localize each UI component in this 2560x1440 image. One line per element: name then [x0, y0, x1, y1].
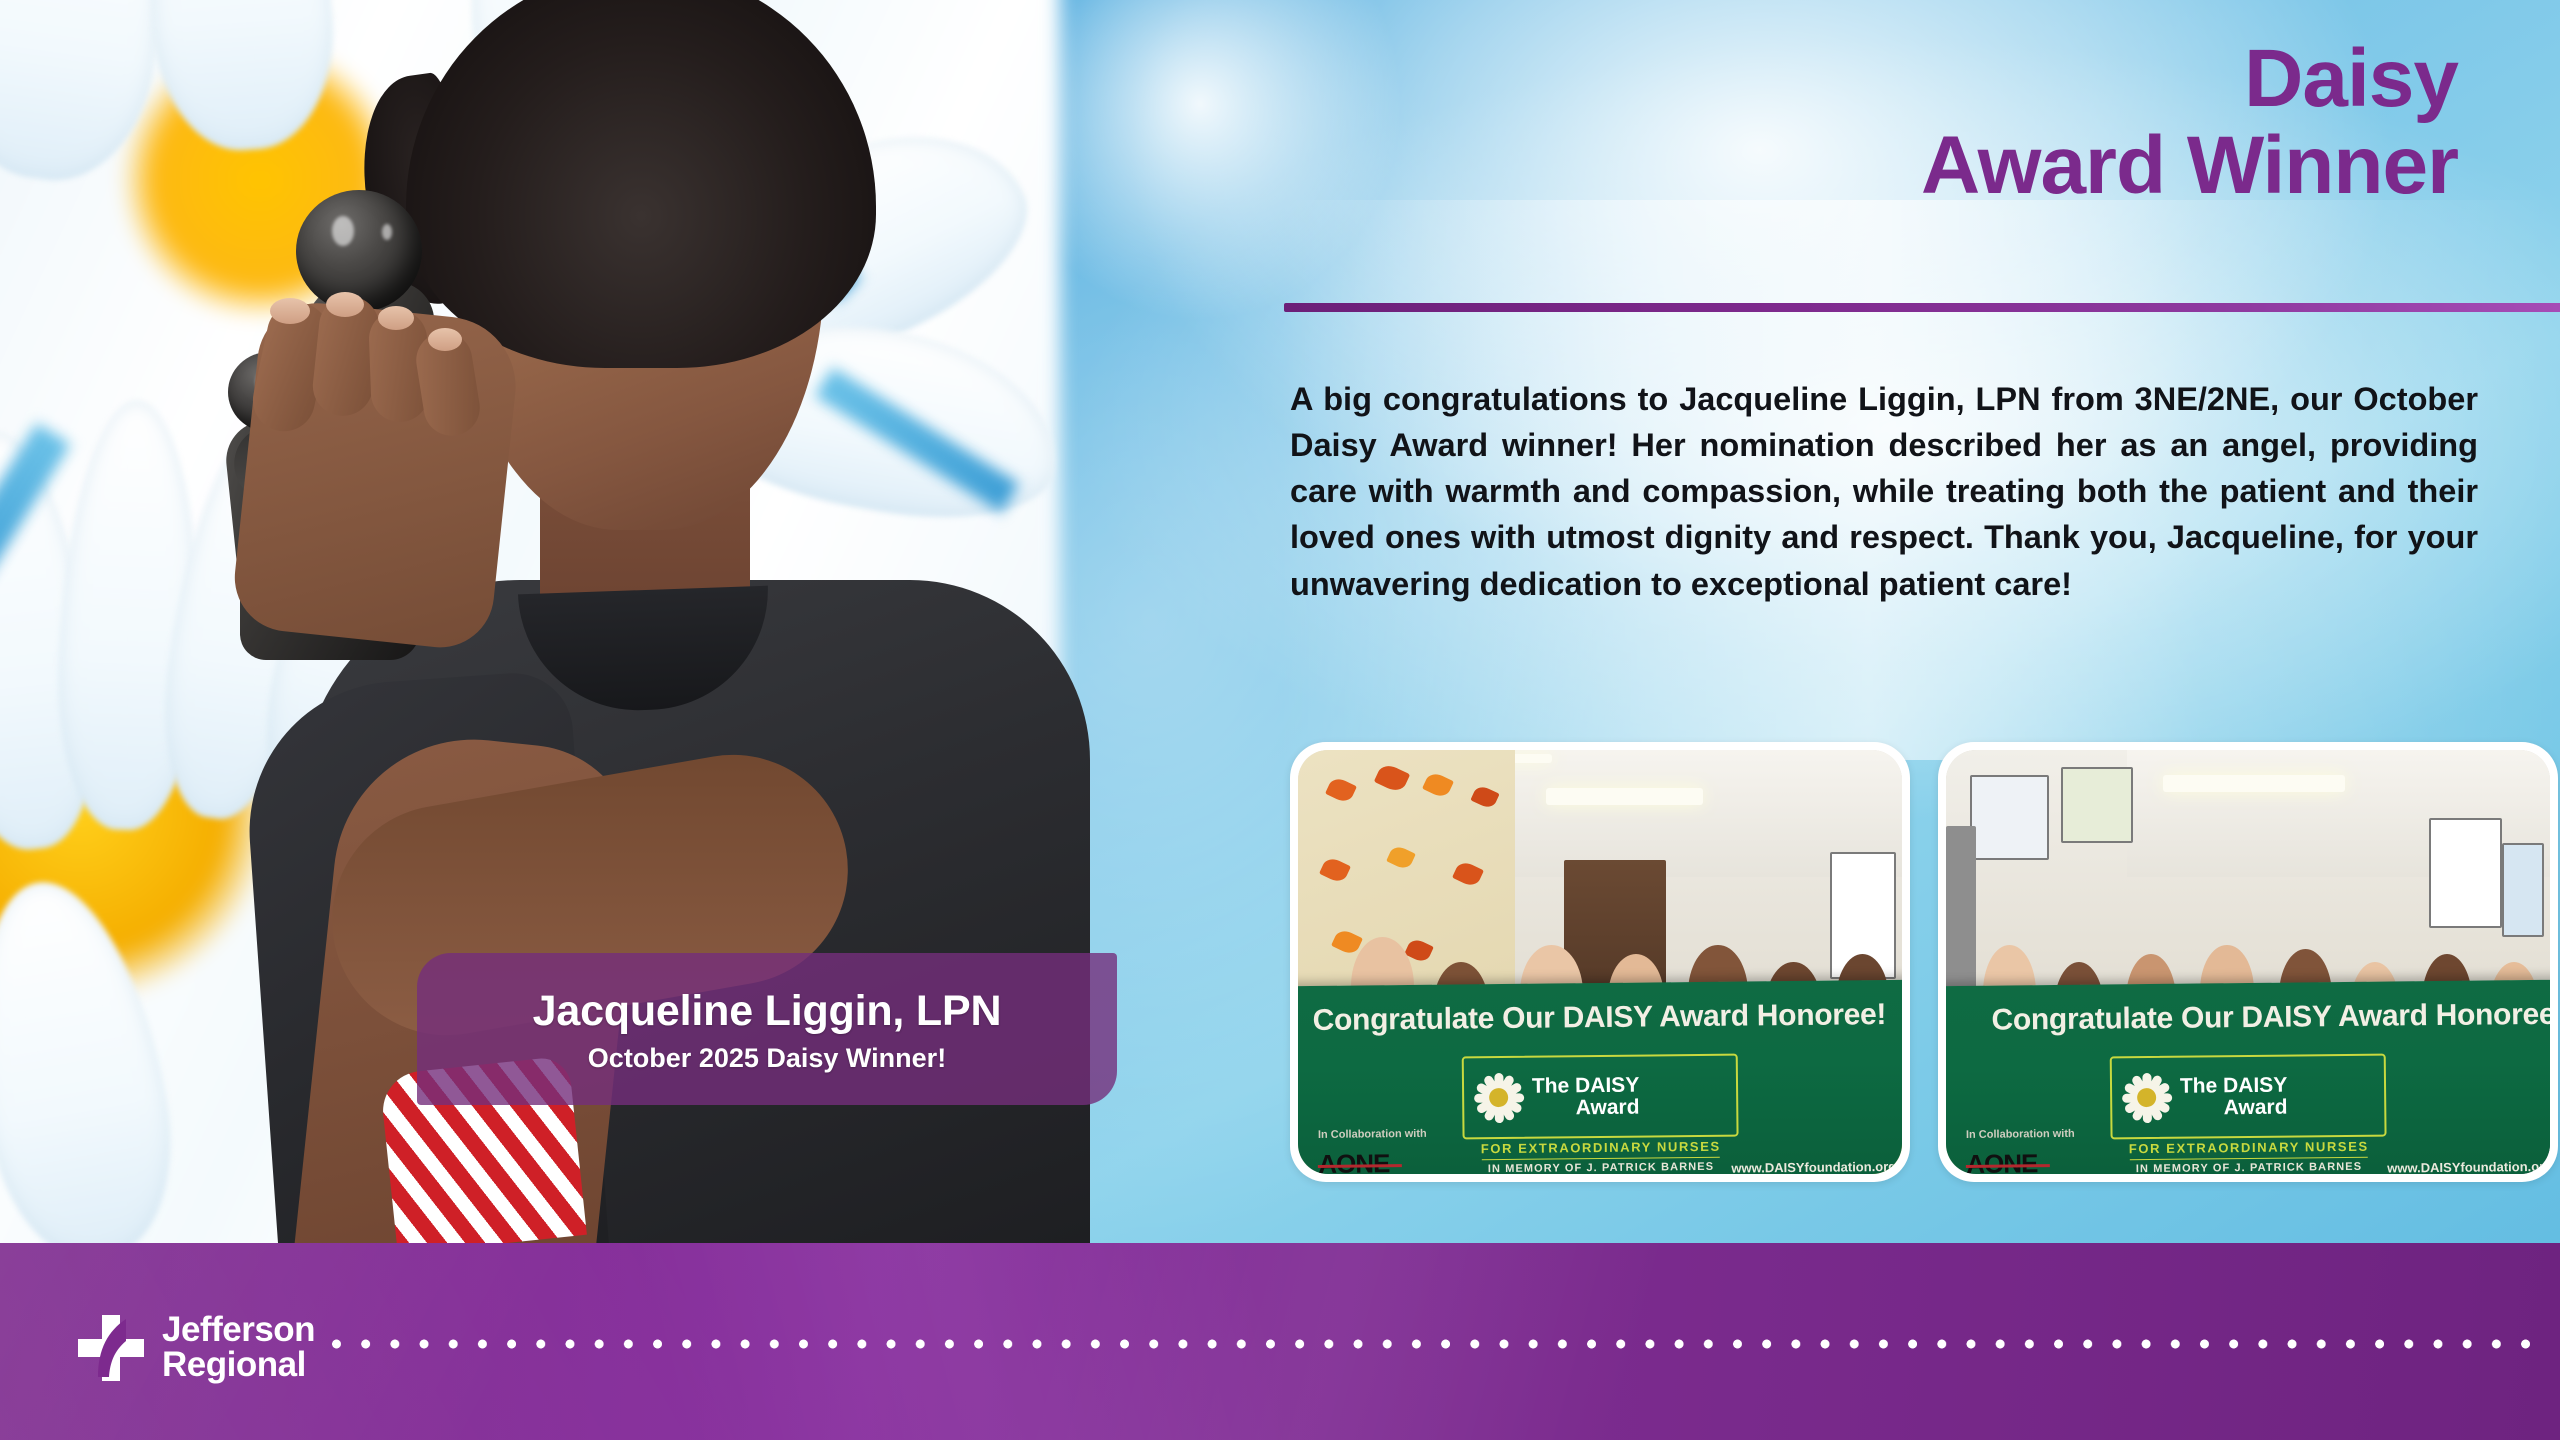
jefferson-regional-wordmark: Jefferson Regional: [162, 1313, 315, 1382]
daisy-flower-icon: [2120, 1071, 2175, 1126]
banner-collaboration-label: In Collaboration with: [1318, 1128, 1427, 1141]
banner-url: www.DAISYfoundation.org: [1731, 1159, 1896, 1174]
portrait-fingernail: [326, 292, 364, 317]
photo-card-image: Congratulate Our DAISY Award Honoree!: [1298, 750, 1902, 1174]
winner-photo-panel: Jacqueline Liggin, LPN October 2025 Dais…: [0, 0, 1282, 1262]
banner-url: www.DAISYfoundation.or: [2387, 1159, 2544, 1174]
logo-line1: Jefferson: [162, 1313, 315, 1348]
portrait-fingernail: [378, 306, 414, 330]
photo-card[interactable]: Congratulate Our DAISY Award Honoree: [1938, 742, 2558, 1182]
banner-divider: [1481, 1157, 1720, 1160]
banner-title: Congratulate Our DAISY Award Honoree: [1959, 998, 2550, 1039]
banner-title: Congratulate Our DAISY Award Honoree!: [1298, 998, 1902, 1039]
banner-aone-logo: AONE: [1966, 1149, 2037, 1174]
content-column: Daisy Award Winner A big congratulations…: [1282, 0, 2560, 1262]
daisy-logo-line2: Award: [1532, 1096, 1640, 1119]
ceiling-light-icon: [1546, 788, 1703, 805]
wall-poster: [1970, 775, 2049, 860]
daisy-logo-line1: The DAISY: [1532, 1074, 1640, 1098]
wall-poster: [2502, 843, 2544, 936]
portrait-hair: [406, 0, 876, 368]
sculpture-highlight: [332, 216, 354, 246]
daisy-banner: Congratulate Our DAISY Award Honoree: [1946, 980, 2550, 1174]
daisy-logo-text: The DAISY Award: [1532, 1075, 1640, 1119]
winner-subtitle: October 2025 Daisy Winner!: [588, 1045, 946, 1072]
daisy-award-poster: Jacqueline Liggin, LPN October 2025 Dais…: [0, 0, 2560, 1440]
title-divider: [1284, 303, 2560, 312]
banner-collaboration-label: In Collaboration with: [1966, 1128, 2075, 1141]
daisy-logo-line2: Award: [2180, 1096, 2288, 1119]
sculpture-highlight: [382, 224, 392, 240]
award-description: A big congratulations to Jacqueline Ligg…: [1290, 376, 2478, 607]
page-title: Daisy Award Winner: [1282, 36, 2458, 210]
photo-card-image: Congratulate Our DAISY Award Honoree: [1946, 750, 2550, 1174]
jefferson-regional-logo: Jefferson Regional: [78, 1313, 315, 1382]
logo-line2: Regional: [162, 1348, 315, 1383]
sculpture-adult-head: [296, 190, 422, 312]
daisy-banner: Congratulate Our DAISY Award Honoree!: [1298, 980, 1902, 1174]
footer-dot-pattern: [330, 1337, 2540, 1351]
wall-poster: [2061, 767, 2133, 843]
page-title-line1: Daisy: [2244, 33, 2458, 124]
jefferson-cross-icon: [78, 1315, 144, 1381]
ceiling-light-icon: [2163, 775, 2344, 792]
banner-divider: [2129, 1157, 2368, 1160]
wall-poster: [2429, 818, 2501, 928]
daisy-award-logo: The DAISY Award: [1462, 1053, 1739, 1140]
photo-gallery: Congratulate Our DAISY Award Honoree!: [1290, 742, 2558, 1182]
portrait-fingernail: [428, 328, 462, 351]
photo-card[interactable]: Congratulate Our DAISY Award Honoree!: [1290, 742, 1910, 1182]
daisy-logo-line1: The DAISY: [2180, 1074, 2288, 1098]
page-title-line2: Award Winner: [1282, 123, 2458, 210]
daisy-flower-icon: [1472, 1071, 1527, 1126]
banner-aone-logo: AONE: [1318, 1149, 1389, 1174]
portrait-fingernail: [270, 298, 310, 324]
daisy-logo-text: The DAISY Award: [2180, 1075, 2288, 1119]
winner-nameplate: Jacqueline Liggin, LPN October 2025 Dais…: [417, 953, 1117, 1105]
winner-name: Jacqueline Liggin, LPN: [533, 990, 1002, 1033]
daisy-award-logo: The DAISY Award: [2110, 1053, 2387, 1140]
